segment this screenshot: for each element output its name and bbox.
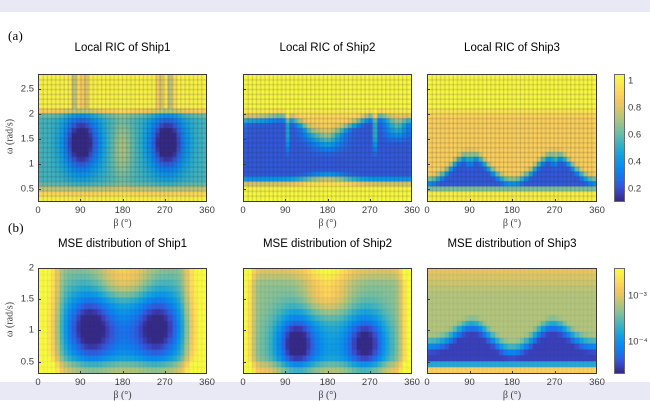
colorbar-gradient <box>614 74 625 202</box>
x-tickmark <box>206 371 207 374</box>
plot-panel-ric-ship1: Local RIC of Ship10.511.522.509018027036… <box>38 12 207 212</box>
y-tick-label: 0.5 <box>21 184 34 195</box>
x-tickmark <box>596 199 597 202</box>
panel-title-ric-ship3: Local RIC of Ship3 <box>427 42 597 54</box>
x-tick-label: 180 <box>115 377 131 388</box>
x-tickmark <box>596 371 597 374</box>
y-tick-label: 1 <box>29 325 34 336</box>
x-tickmark <box>470 199 471 202</box>
colorbar-tick-label: 10⁻⁴ <box>628 336 648 347</box>
heatmap-canvas-mse-ship2 <box>243 268 412 374</box>
x-tick-label: 90 <box>75 377 86 388</box>
x-tickmark <box>38 199 39 202</box>
y-tickmark <box>243 299 246 300</box>
x-tick-label: 270 <box>547 377 563 388</box>
plot-panel-mse-ship3: MSE distribution of Ship3090180270360β (… <box>427 212 597 382</box>
heatmap-mse-ship1 <box>38 268 207 374</box>
y-tick-label: 1 <box>29 159 34 170</box>
plot-panel-mse-ship2: MSE distribution of Ship2090180270360β (… <box>243 212 412 382</box>
y-tickmark <box>38 330 41 331</box>
panel-title-mse-ship2: MSE distribution of Ship2 <box>243 238 412 250</box>
y-tickmark <box>38 299 41 300</box>
y-tick-label: 2.5 <box>21 84 34 95</box>
x-tickmark <box>370 199 371 202</box>
panel-title-mse-ship1: MSE distribution of Ship1 <box>38 238 207 250</box>
y-tickmark <box>427 330 430 331</box>
x-tickmark <box>285 199 286 202</box>
y-tickmark <box>243 114 246 115</box>
y-tick-label: 0.5 <box>21 356 34 367</box>
x-tickmark <box>243 199 244 202</box>
x-tick-label: 90 <box>280 377 291 388</box>
y-tickmark <box>243 268 246 269</box>
y-tickmark <box>38 89 41 90</box>
heatmap-canvas-ric-ship3 <box>427 74 597 202</box>
x-tickmark <box>512 199 513 202</box>
x-tickmark <box>555 371 556 374</box>
x-tick-label: 270 <box>157 377 173 388</box>
figure-canvas: (a) Local RIC of Ship10.511.522.50901802… <box>0 12 650 382</box>
x-tick-label: 180 <box>320 377 336 388</box>
x-tick-label: 0 <box>240 377 245 388</box>
x-tickmark <box>165 199 166 202</box>
heatmap-canvas-ric-ship1 <box>38 74 207 202</box>
figure-row-b: (b) MSE distribution of Ship10.511.52090… <box>0 212 650 382</box>
y-tickmark <box>427 89 430 90</box>
colorbar-tick-label: 0.2 <box>628 183 641 194</box>
x-tickmark <box>206 199 207 202</box>
panel-title-ric-ship2: Local RIC of Ship2 <box>243 42 412 54</box>
x-tickmark <box>80 199 81 202</box>
y-tickmark <box>38 268 41 269</box>
y-tick-label: 2 <box>29 263 34 274</box>
y-tickmark <box>427 299 430 300</box>
y-tickmark <box>38 139 41 140</box>
y-axis-label: ω (rad/s) <box>5 267 16 373</box>
y-axis-label: ω (rad/s) <box>5 73 16 201</box>
x-axis-label: β (°) <box>38 390 207 401</box>
heatmap-mse-ship2 <box>243 268 412 374</box>
x-tickmark <box>470 371 471 374</box>
x-tickmark <box>285 371 286 374</box>
row-tag-b: (b) <box>8 220 24 236</box>
plot-panel-ric-ship3: Local RIC of Ship3090180270360β (°) <box>427 12 597 212</box>
colorbar-tick-label: 1 <box>628 75 633 86</box>
x-tick-label: 180 <box>504 377 520 388</box>
x-tickmark <box>80 371 81 374</box>
heatmap-ric-ship2 <box>243 74 412 202</box>
y-tickmark <box>243 139 246 140</box>
figure-row-a: (a) Local RIC of Ship10.511.522.50901802… <box>0 12 650 212</box>
colorbar-row-b: 10⁻³10⁻⁴ <box>614 268 625 374</box>
x-tickmark <box>411 199 412 202</box>
x-tickmark <box>38 371 39 374</box>
y-tickmark <box>427 362 430 363</box>
x-tickmark <box>427 371 428 374</box>
y-tickmark <box>243 330 246 331</box>
y-tickmark <box>38 189 41 190</box>
x-tick-label: 0 <box>424 377 429 388</box>
x-tickmark <box>243 371 244 374</box>
y-tickmark <box>427 189 430 190</box>
y-tickmark <box>427 114 430 115</box>
y-tickmark <box>427 164 430 165</box>
x-tickmark <box>427 199 428 202</box>
y-tickmark <box>427 268 430 269</box>
top-decorative-band <box>0 0 650 12</box>
x-tickmark <box>555 199 556 202</box>
x-tick-label: 360 <box>589 377 605 388</box>
heatmap-canvas-mse-ship3 <box>427 268 597 374</box>
x-tick-label: 360 <box>199 377 215 388</box>
heatmap-ric-ship3 <box>427 74 597 202</box>
heatmap-canvas-mse-ship1 <box>38 268 207 374</box>
x-tickmark <box>123 371 124 374</box>
x-tickmark <box>370 371 371 374</box>
heatmap-canvas-ric-ship2 <box>243 74 412 202</box>
x-tick-label: 360 <box>404 377 420 388</box>
y-tickmark <box>243 164 246 165</box>
colorbar-gradient <box>614 268 625 374</box>
y-tickmark <box>427 139 430 140</box>
colorbar-row-a: 10.80.60.40.2 <box>614 74 625 202</box>
x-tick-label: 270 <box>362 377 378 388</box>
x-tickmark <box>328 199 329 202</box>
x-tickmark <box>328 371 329 374</box>
panel-title-ric-ship1: Local RIC of Ship1 <box>38 42 207 54</box>
y-tickmark <box>243 89 246 90</box>
plot-panel-ric-ship2: Local RIC of Ship2090180270360β (°) <box>243 12 412 212</box>
plot-panel-mse-ship1: MSE distribution of Ship10.511.520901802… <box>38 212 207 382</box>
row-tag-a: (a) <box>8 28 23 44</box>
x-tickmark <box>411 371 412 374</box>
colorbar-tick-label: 0.6 <box>628 129 641 140</box>
x-tick-label: 0 <box>35 377 40 388</box>
y-tick-label: 1.5 <box>21 294 34 305</box>
y-tick-label: 1.5 <box>21 134 34 145</box>
x-axis-label: β (°) <box>427 390 597 401</box>
panel-title-mse-ship3: MSE distribution of Ship3 <box>427 238 597 250</box>
x-tickmark <box>512 371 513 374</box>
x-tick-label: 90 <box>464 377 475 388</box>
y-tickmark <box>243 189 246 190</box>
y-tickmark <box>38 362 41 363</box>
heatmap-mse-ship3 <box>427 268 597 374</box>
heatmap-ric-ship1 <box>38 74 207 202</box>
x-tickmark <box>165 371 166 374</box>
y-tick-label: 2 <box>29 109 34 120</box>
y-tickmark <box>38 164 41 165</box>
y-tickmark <box>38 114 41 115</box>
colorbar-tick-label: 10⁻³ <box>628 290 647 301</box>
colorbar-tick-label: 0.8 <box>628 102 641 113</box>
x-axis-label: β (°) <box>243 390 412 401</box>
y-tickmark <box>243 362 246 363</box>
x-tickmark <box>123 199 124 202</box>
colorbar-tick-label: 0.4 <box>628 156 641 167</box>
